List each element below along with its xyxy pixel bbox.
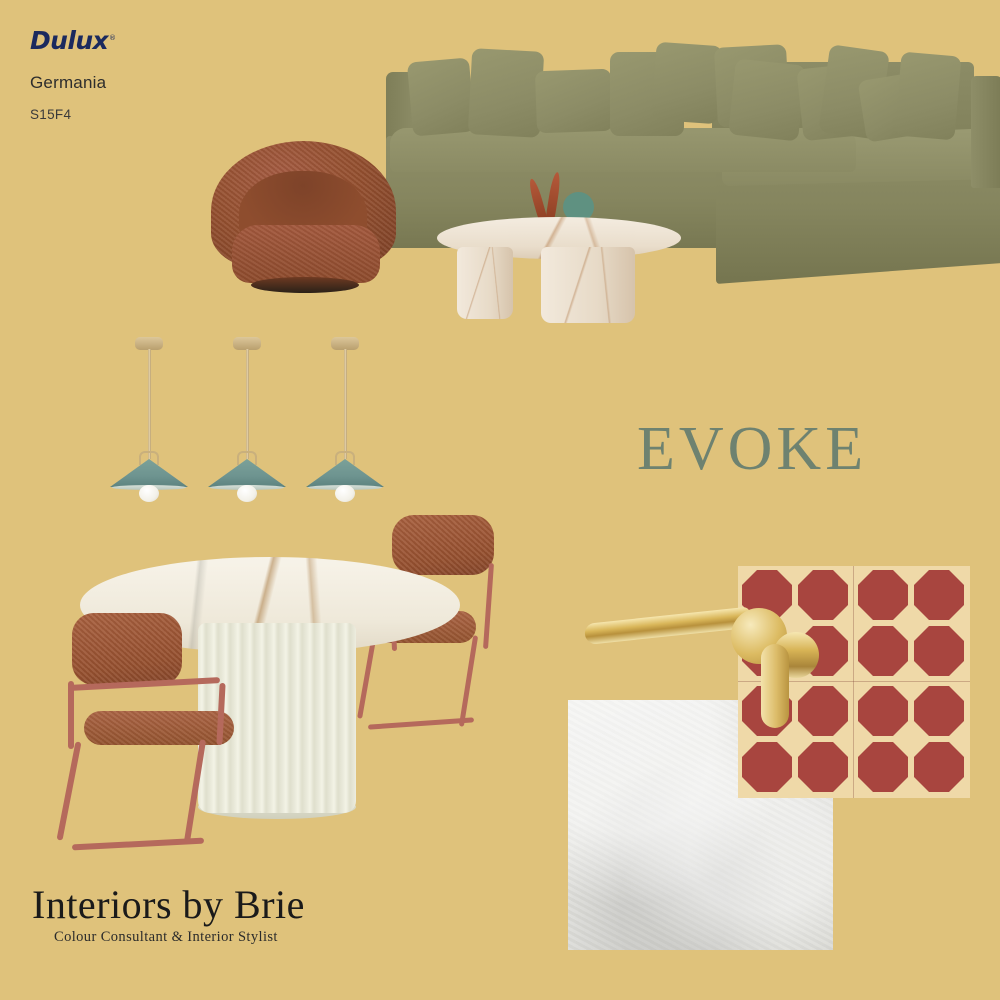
pendant-light	[110, 335, 188, 500]
tap-spout	[584, 607, 751, 645]
octagon-tile	[858, 686, 908, 736]
sofa-right-arm	[971, 76, 1000, 188]
dulux-logo: Dulux®	[30, 26, 115, 55]
dining-chair-back	[72, 613, 182, 685]
sofa-pillow	[894, 52, 961, 141]
studio-name: Interiors by Brie	[32, 884, 362, 926]
dining-chair-frame	[184, 739, 206, 843]
dining-chair-seat	[84, 711, 234, 745]
sofa-pillow	[407, 57, 475, 136]
dining-chair-frame	[357, 639, 376, 719]
octagon-tile	[914, 686, 964, 736]
dining-table	[60, 545, 480, 845]
brass-tapware	[585, 596, 835, 716]
pendant-globe-bulb	[237, 485, 257, 502]
coffee-table-leg	[457, 247, 513, 319]
coffee-table	[437, 217, 681, 322]
dining-chair	[42, 603, 242, 863]
octagon-tile	[914, 626, 964, 676]
headline-evoke: EVOKE	[637, 418, 867, 480]
dulux-wordmark: Dulux	[30, 26, 108, 55]
dining-chair-back	[392, 515, 494, 575]
octagon-tile	[798, 742, 848, 792]
pendant-light-group	[110, 335, 380, 500]
sofa-pillow	[651, 42, 722, 124]
octagon-tile	[858, 626, 908, 676]
mood-board: Dulux® Germania S15F4	[0, 0, 1000, 1000]
pendant-rod	[246, 349, 249, 459]
pendant-shade	[208, 459, 286, 487]
pendant-globe-bulb	[335, 485, 355, 502]
pendant-shade	[306, 459, 384, 487]
sofa-pillow	[728, 59, 806, 142]
dulux-brand-block: Dulux® Germania S15F4	[30, 26, 115, 122]
studio-signature: Interiors by Brie Colour Consultant & In…	[32, 884, 362, 946]
pendant-rod	[344, 349, 347, 459]
trademark-icon: ®	[109, 34, 115, 42]
pendant-rod	[148, 349, 151, 459]
pendant-globe-bulb	[139, 485, 159, 502]
octagon-tile	[742, 742, 792, 792]
dining-chair-frame	[483, 563, 494, 649]
octagon-tile	[858, 742, 908, 792]
tile-grout-line	[853, 566, 854, 798]
dining-chair-frame	[459, 635, 478, 727]
dining-chair-frame	[72, 838, 204, 851]
octagon-tile	[914, 570, 964, 620]
armchair-swivel-base	[251, 277, 359, 293]
sofa-pillow	[468, 48, 544, 138]
tap-lever-handle	[761, 644, 789, 728]
octagon-tile	[858, 570, 908, 620]
swivel-armchair	[211, 141, 396, 303]
pendant-light	[306, 335, 384, 500]
coffee-table-leg	[541, 247, 635, 323]
sofa-pillow	[535, 69, 613, 134]
armchair-seat	[232, 225, 380, 283]
dining-chair-frame	[57, 741, 82, 840]
studio-tagline: Colour Consultant & Interior Stylist	[54, 929, 362, 946]
dining-chair-frame	[68, 681, 74, 749]
paint-colour-name: Germania	[30, 73, 115, 93]
paint-colour-code: S15F4	[30, 107, 115, 122]
pendant-shade	[110, 459, 188, 487]
octagon-tile	[914, 742, 964, 792]
pendant-light	[208, 335, 286, 500]
